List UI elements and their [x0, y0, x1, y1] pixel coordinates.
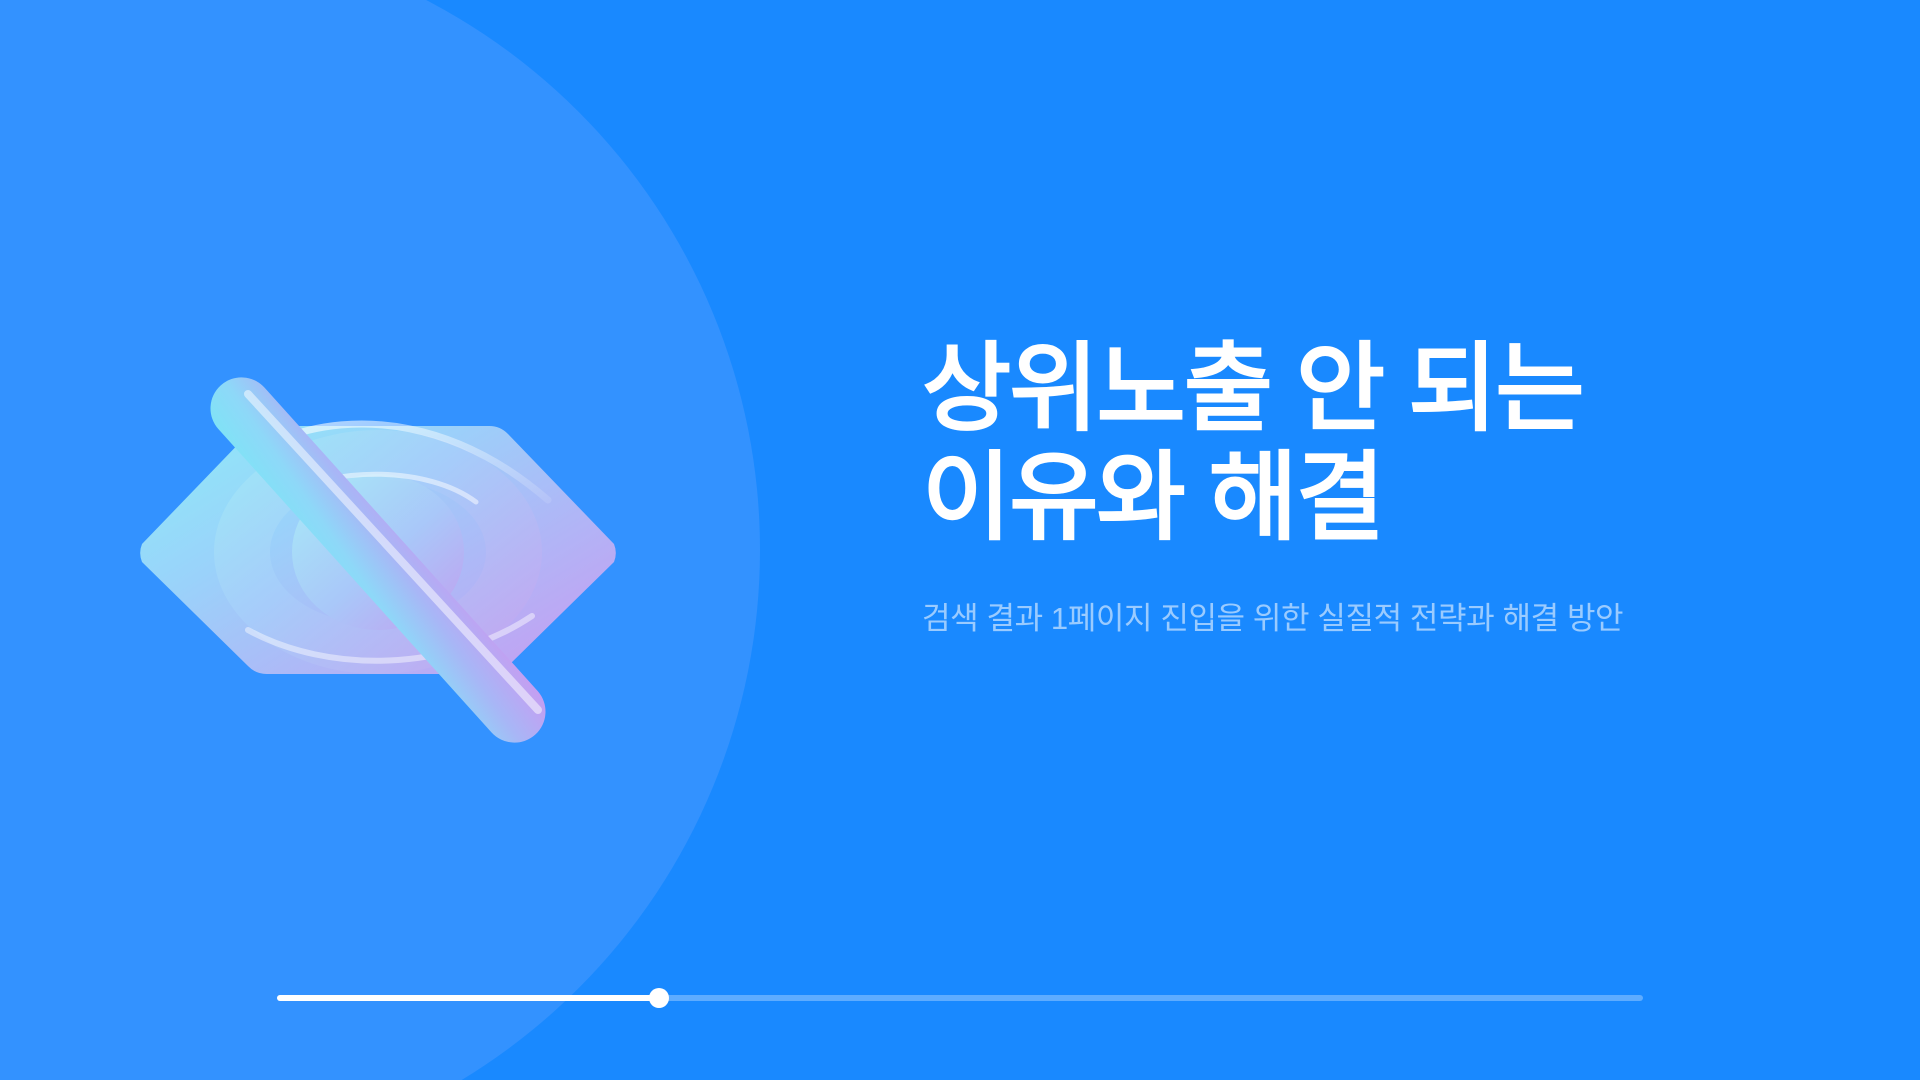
slide-title: 상위노출 안 되는 이유와 해결: [922, 335, 1762, 552]
slide-subtitle: 검색 결과 1페이지 진입을 위한 실질적 전략과 해결 방안: [922, 596, 1752, 643]
slide-progress-bar[interactable]: [277, 988, 1643, 1008]
slide-root: 상위노출 안 되는 이유와 해결 검색 결과 1페이지 진입을 위한 실질적 전…: [0, 0, 1920, 1080]
progress-fill: [277, 995, 659, 1001]
slide-text-block: 상위노출 안 되는 이유와 해결 검색 결과 1페이지 진입을 위한 실질적 전…: [922, 335, 1762, 643]
eye-off-illustration: [128, 330, 628, 750]
progress-knob[interactable]: [649, 988, 669, 1008]
